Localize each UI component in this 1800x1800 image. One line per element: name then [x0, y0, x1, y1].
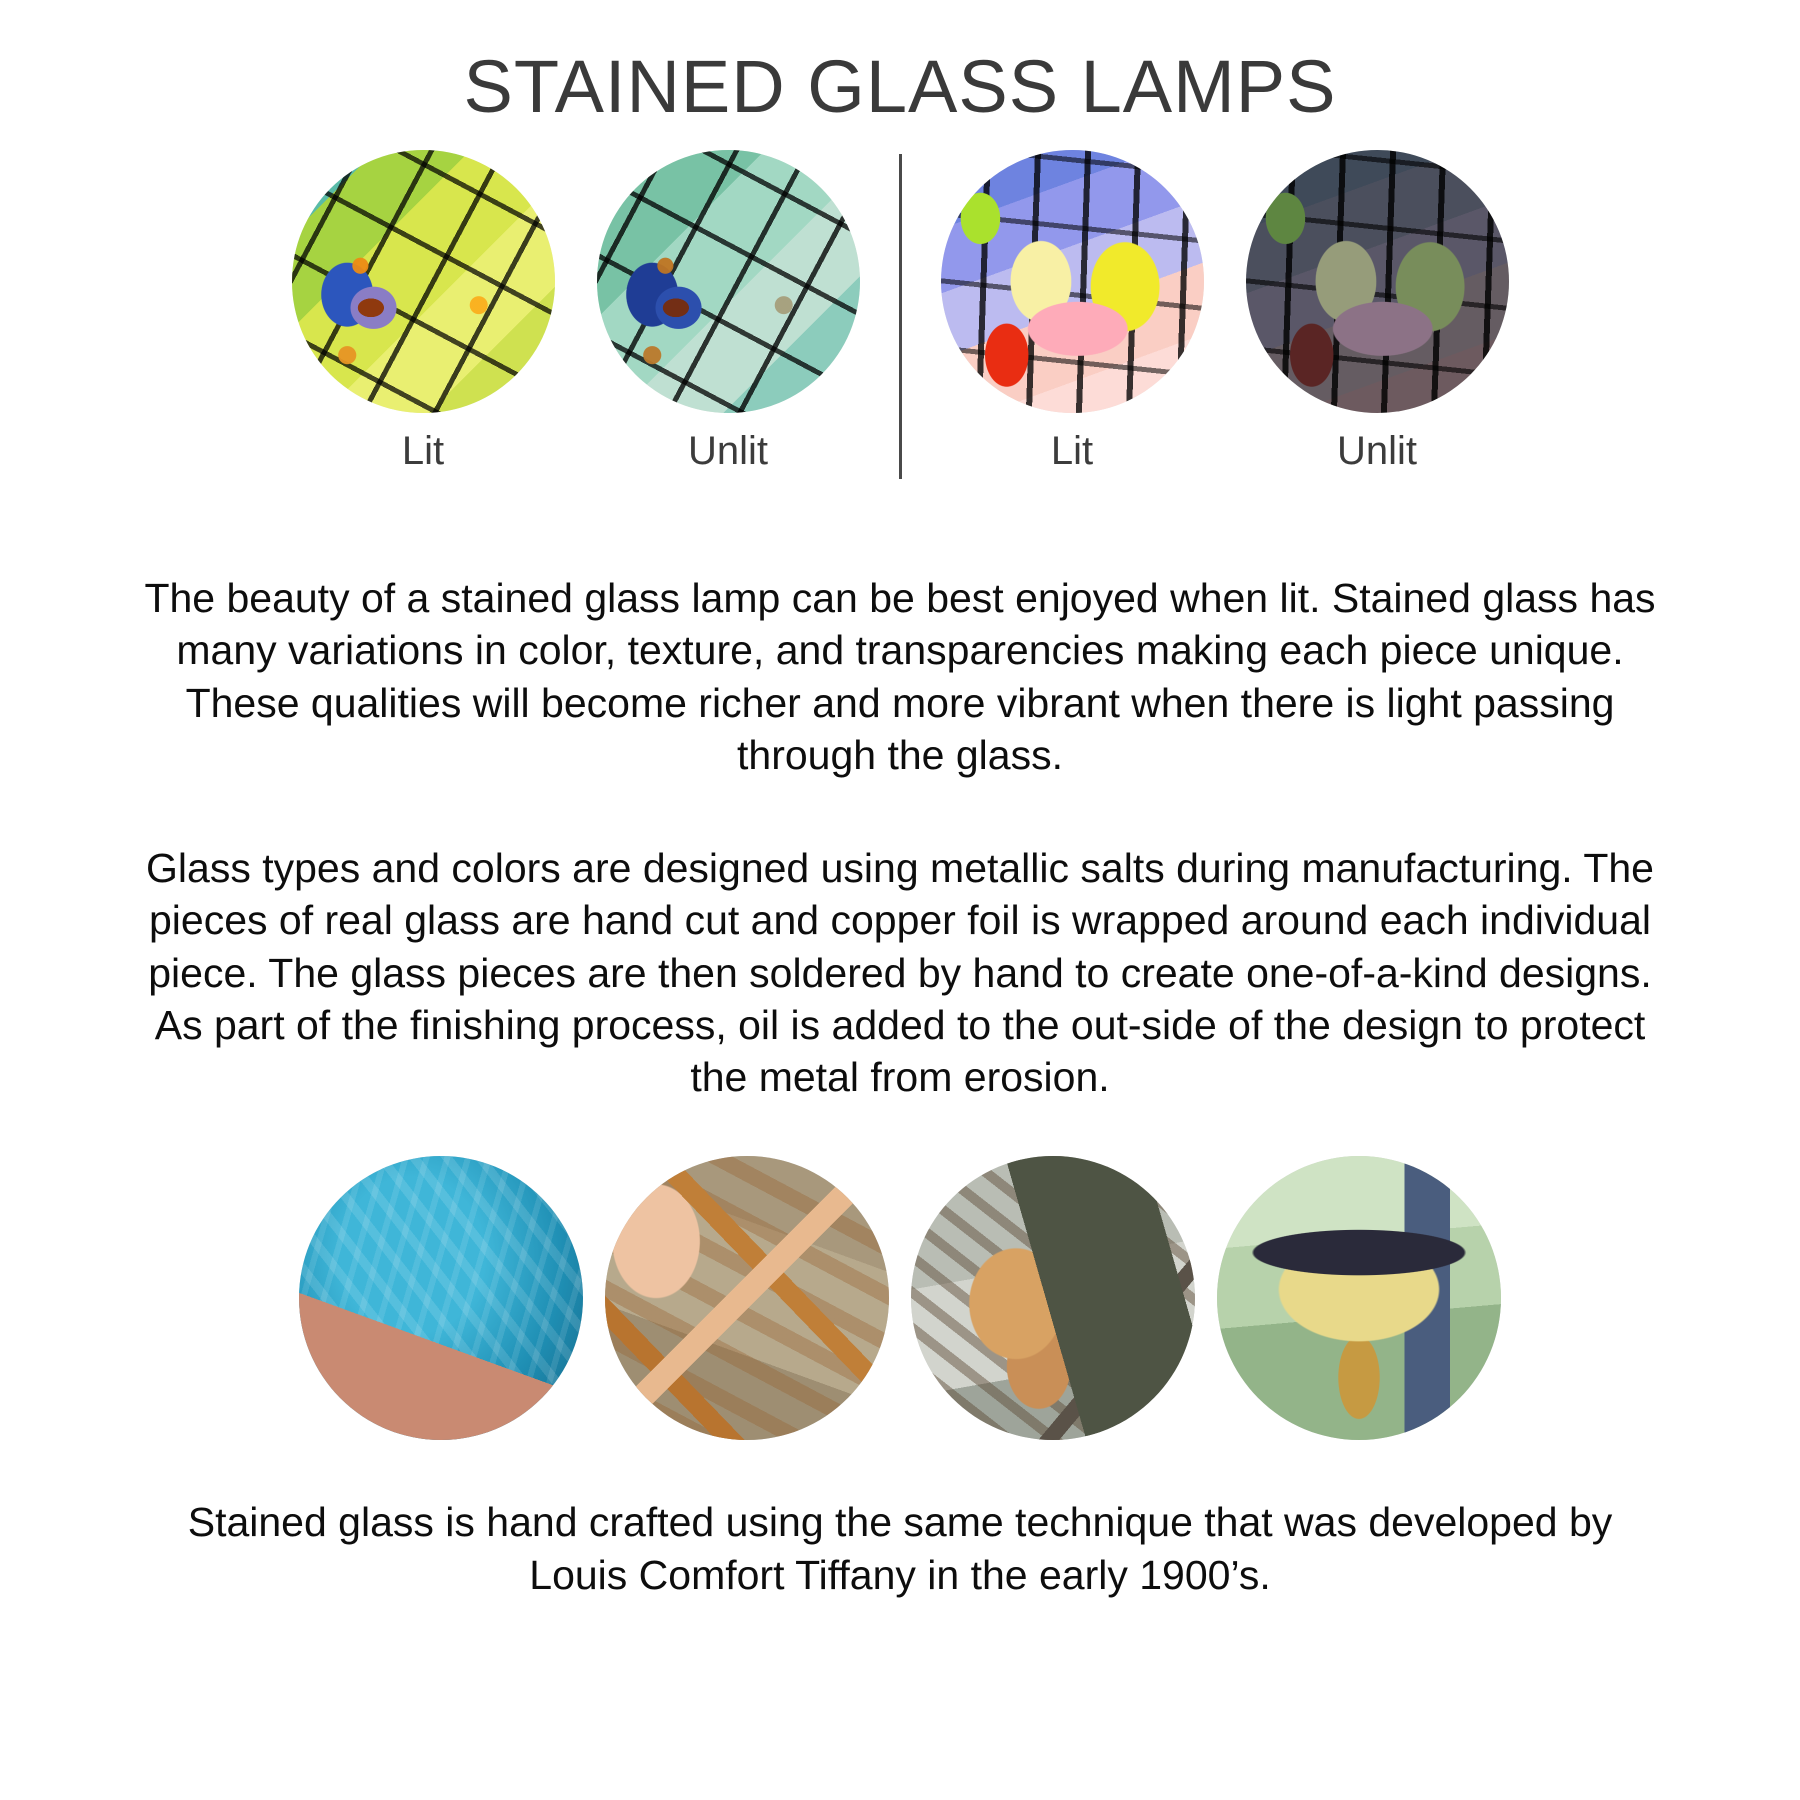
blue-glass-sheet-icon — [299, 1156, 583, 1440]
stained-glass-floral-lit-swatch — [941, 150, 1204, 413]
pair-divider — [899, 154, 902, 479]
paragraph-lit-beauty: The beauty of a stained glass lamp can b… — [140, 572, 1660, 782]
glass-art-floral-unlit-icon — [1246, 150, 1509, 413]
comparison-cell-geometric-lit[interactable]: Lit — [271, 150, 576, 473]
comparison-pair-geometric: Lit Unlit — [271, 150, 881, 473]
comparison-label-floral-unlit: Unlit — [1337, 429, 1417, 473]
copper-foil-wrapping-icon — [605, 1156, 889, 1440]
process-step-finished-lamp[interactable] — [1217, 1156, 1501, 1440]
comparison-label-geometric-unlit: Unlit — [688, 429, 768, 473]
lit-unlit-comparison-strip: Lit Unlit Lit — [0, 150, 1800, 550]
comparison-cell-geometric-unlit[interactable]: Unlit — [576, 150, 881, 473]
page-title: STAINED GLASS LAMPS — [0, 0, 1800, 126]
stained-glass-geometric-unlit-swatch — [597, 150, 860, 413]
process-step-hand-soldering[interactable] — [911, 1156, 1195, 1440]
glass-art-floral-lit-icon — [941, 150, 1204, 413]
paragraph-manufacturing: Glass types and colors are designed usin… — [140, 842, 1660, 1104]
comparison-cell-floral-unlit[interactable]: Unlit — [1225, 150, 1530, 473]
finished-tiffany-lamp-icon — [1217, 1156, 1501, 1440]
comparison-label-floral-lit: Lit — [1051, 429, 1093, 473]
comparison-row: Lit Unlit Lit — [0, 150, 1800, 479]
process-image-strip — [0, 1156, 1800, 1440]
stained-glass-geometric-lit-swatch — [292, 150, 555, 413]
infographic-page: STAINED GLASS LAMPS Lit Unlit — [0, 0, 1800, 1800]
comparison-label-geometric-lit: Lit — [402, 429, 444, 473]
process-step-blue-glass-sheet[interactable] — [299, 1156, 583, 1440]
process-step-copper-foil-wrapping[interactable] — [605, 1156, 889, 1440]
comparison-cell-floral-lit[interactable]: Lit — [920, 150, 1225, 473]
glass-art-geometric-lit-icon — [292, 150, 555, 413]
comparison-pair-floral: Lit Unlit — [920, 150, 1530, 473]
stained-glass-floral-unlit-swatch — [1246, 150, 1509, 413]
glass-art-geometric-unlit-icon — [597, 150, 860, 413]
footer-caption: Stained glass is hand crafted using the … — [140, 1496, 1660, 1603]
hand-soldering-icon — [911, 1156, 1195, 1440]
body-copy: The beauty of a stained glass lamp can b… — [140, 572, 1660, 1104]
